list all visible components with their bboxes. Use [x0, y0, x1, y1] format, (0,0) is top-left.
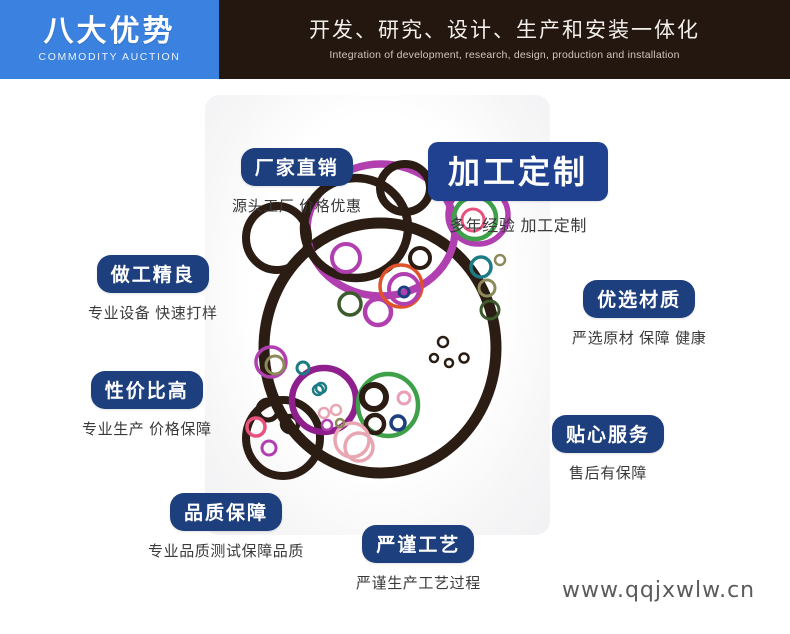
feature-subtitle: 源头工厂 价格优惠 [232, 195, 362, 216]
feature-badge[interactable]: 优选材质 [583, 280, 695, 318]
brand-title-en: COMMODITY AUCTION [39, 51, 181, 63]
brand-block: 八大优势 COMMODITY AUCTION [0, 0, 219, 79]
feature-value-for-money[interactable]: 性价比高 专业生产 价格保障 [82, 371, 212, 439]
header-bar: 八大优势 COMMODITY AUCTION 开发、研究、设计、生产和安装一体化… [0, 0, 790, 79]
feature-subtitle: 多年经验 加工定制 [428, 212, 608, 236]
feature-subtitle: 严谨生产工艺过程 [356, 572, 481, 593]
promo-banner: 八大优势 COMMODITY AUCTION 开发、研究、设计、生产和安装一体化… [0, 0, 790, 634]
feature-badge[interactable]: 品质保障 [170, 493, 282, 531]
feature-badge[interactable]: 性价比高 [91, 371, 203, 409]
site-watermark: www.qqjxwlw.cn [562, 578, 755, 603]
feature-factory-direct[interactable]: 厂家直销 源头工厂 价格优惠 [232, 148, 362, 216]
tagline-cn: 开发、研究、设计、生产和安装一体化 [309, 18, 700, 43]
brand-title-cn: 八大优势 [44, 16, 176, 48]
feature-rigorous-craft[interactable]: 严谨工艺 严谨生产工艺过程 [356, 525, 481, 593]
feature-subtitle: 严选原材 保障 健康 [572, 327, 706, 348]
feature-custom-processing[interactable]: 加工定制 多年经验 加工定制 [428, 142, 608, 236]
feature-fine-workmanship[interactable]: 做工精良 专业设备 快速打样 [88, 255, 218, 323]
feature-badge[interactable]: 厂家直销 [241, 148, 353, 186]
feature-premium-material[interactable]: 优选材质 严选原材 保障 健康 [572, 280, 706, 348]
feature-badge[interactable]: 做工精良 [97, 255, 209, 293]
feature-badge[interactable]: 加工定制 [428, 142, 608, 201]
feature-subtitle: 专业设备 快速打样 [88, 302, 218, 323]
feature-subtitle: 专业生产 价格保障 [82, 418, 212, 439]
feature-badge[interactable]: 贴心服务 [552, 415, 664, 453]
feature-subtitle: 售后有保障 [552, 462, 664, 483]
feature-subtitle: 专业品质测试保障品质 [148, 540, 304, 561]
tagline-en: Integration of development, research, de… [329, 49, 679, 61]
feature-badge[interactable]: 严谨工艺 [362, 525, 474, 563]
feature-caring-service[interactable]: 贴心服务 售后有保障 [552, 415, 664, 483]
tagline-block: 开发、研究、设计、生产和安装一体化 Integration of develop… [219, 0, 790, 79]
feature-quality-assurance[interactable]: 品质保障 专业品质测试保障品质 [148, 493, 304, 561]
